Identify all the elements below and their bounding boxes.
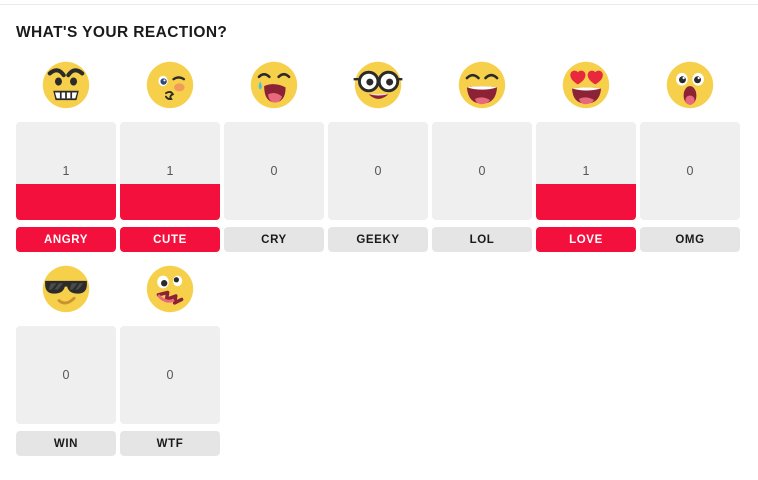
reaction-count-angry: 1 (16, 164, 116, 178)
reaction-count-love: 1 (536, 164, 636, 178)
reaction-count-cry: 0 (224, 164, 324, 178)
reaction-count-omg: 0 (640, 164, 740, 178)
reaction-count-wtf: 0 (120, 368, 220, 382)
reaction-count-cute: 1 (120, 164, 220, 178)
reaction-label-button-omg[interactable]: OMG (640, 227, 740, 252)
reaction-count-box-wtf[interactable]: 0 (120, 326, 220, 424)
reaction-label-button-cute[interactable]: CUTE (120, 227, 220, 252)
sunglasses-face-emoji[interactable] (37, 260, 95, 318)
reaction-label-button-angry[interactable]: ANGRY (16, 227, 116, 252)
zany-face-emoji[interactable] (141, 260, 199, 318)
reaction-widget: WHAT'S YOUR REACTION? 1ANGRY1CUTE0CRY0GE… (0, 0, 758, 480)
reaction-count-box-win[interactable]: 0 (16, 326, 116, 424)
reaction-count-fill-angry (16, 184, 116, 220)
reaction-count-geeky: 0 (328, 164, 428, 178)
astonished-face-emoji[interactable] (661, 56, 719, 114)
reaction-count-box-cry[interactable]: 0 (224, 122, 324, 220)
reaction-count-lol: 0 (432, 164, 532, 178)
reaction-count-box-love[interactable]: 1 (536, 122, 636, 220)
reaction-count-fill-cute (120, 184, 220, 220)
reaction-label-button-lol[interactable]: LOL (432, 227, 532, 252)
reaction-label-button-geeky[interactable]: GEEKY (328, 227, 428, 252)
reaction-count-box-omg[interactable]: 0 (640, 122, 740, 220)
reaction-count-box-lol[interactable]: 0 (432, 122, 532, 220)
laughing-face-emoji[interactable] (453, 56, 511, 114)
reaction-label-button-win[interactable]: WIN (16, 431, 116, 456)
reaction-count-box-cute[interactable]: 1 (120, 122, 220, 220)
reaction-label-button-wtf[interactable]: WTF (120, 431, 220, 456)
kissing-winking-face-emoji[interactable] (141, 56, 199, 114)
reaction-label-button-love[interactable]: LOVE (536, 227, 636, 252)
reaction-count-win: 0 (16, 368, 116, 382)
reaction-count-fill-love (536, 184, 636, 220)
reaction-count-box-angry[interactable]: 1 (16, 122, 116, 220)
angry-face-emoji[interactable] (37, 56, 95, 114)
reaction-label-button-cry[interactable]: CRY (224, 227, 324, 252)
heart-eyes-face-emoji[interactable] (557, 56, 615, 114)
nerd-face-emoji[interactable] (349, 56, 407, 114)
reaction-count-box-geeky[interactable]: 0 (328, 122, 428, 220)
page-title: WHAT'S YOUR REACTION? (16, 24, 227, 42)
crying-loudly-face-emoji[interactable] (245, 56, 303, 114)
